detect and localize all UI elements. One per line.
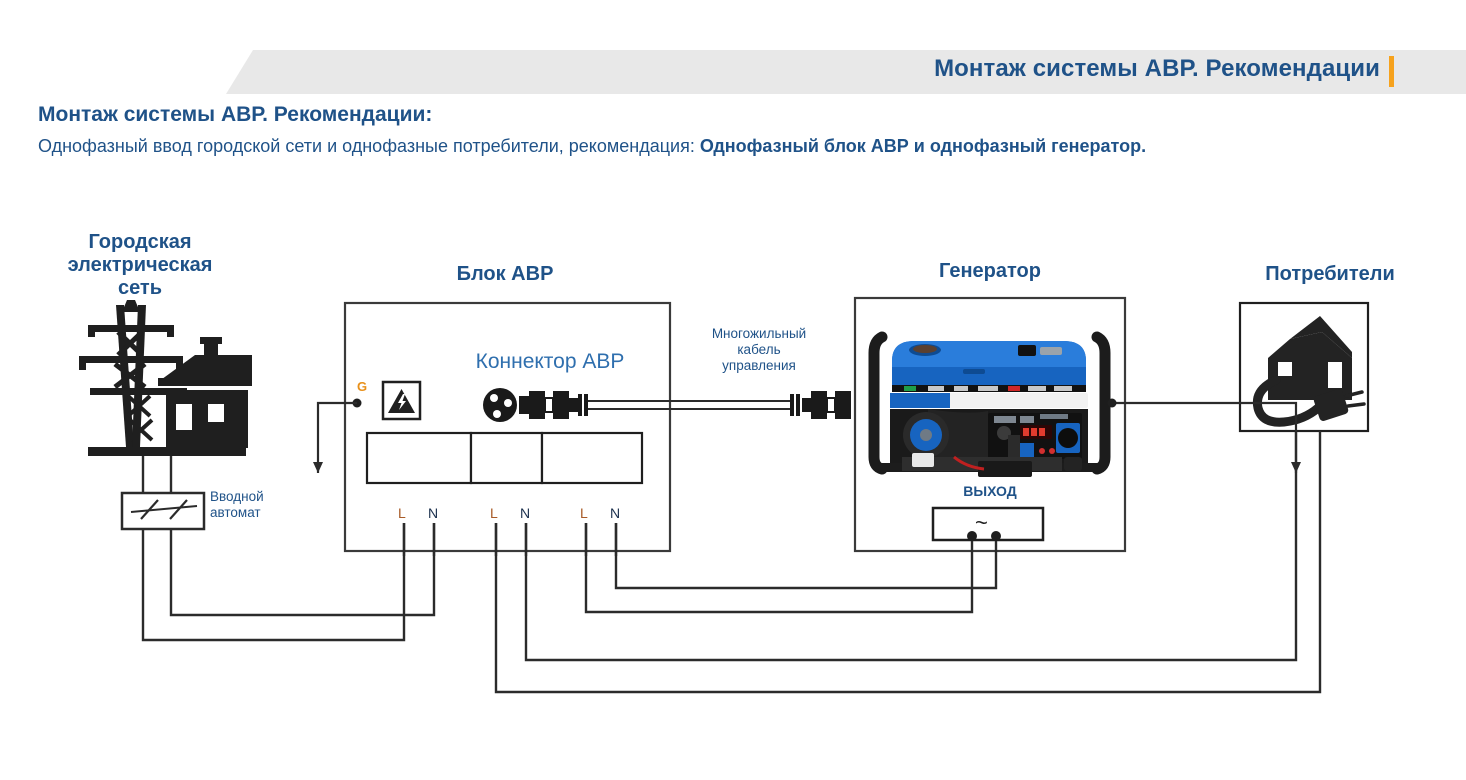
ats-block-enclosure <box>345 303 670 551</box>
cable-plug-icon <box>519 391 588 419</box>
ats-terminal-boxes <box>367 433 642 483</box>
house-icon <box>158 337 252 448</box>
control-cable-line <box>588 401 790 409</box>
round-3pin-socket-icon <box>483 388 517 422</box>
wiring-diagram: ~ <box>0 0 1466 780</box>
svg-text:~: ~ <box>975 510 988 535</box>
input-breaker-symbol <box>122 493 204 529</box>
generator-cable-plug-icon <box>790 391 851 419</box>
generator-output-terminal: ~ <box>933 508 1043 541</box>
ats-ground-lead <box>313 399 362 474</box>
high-voltage-warning-icon <box>383 382 420 419</box>
